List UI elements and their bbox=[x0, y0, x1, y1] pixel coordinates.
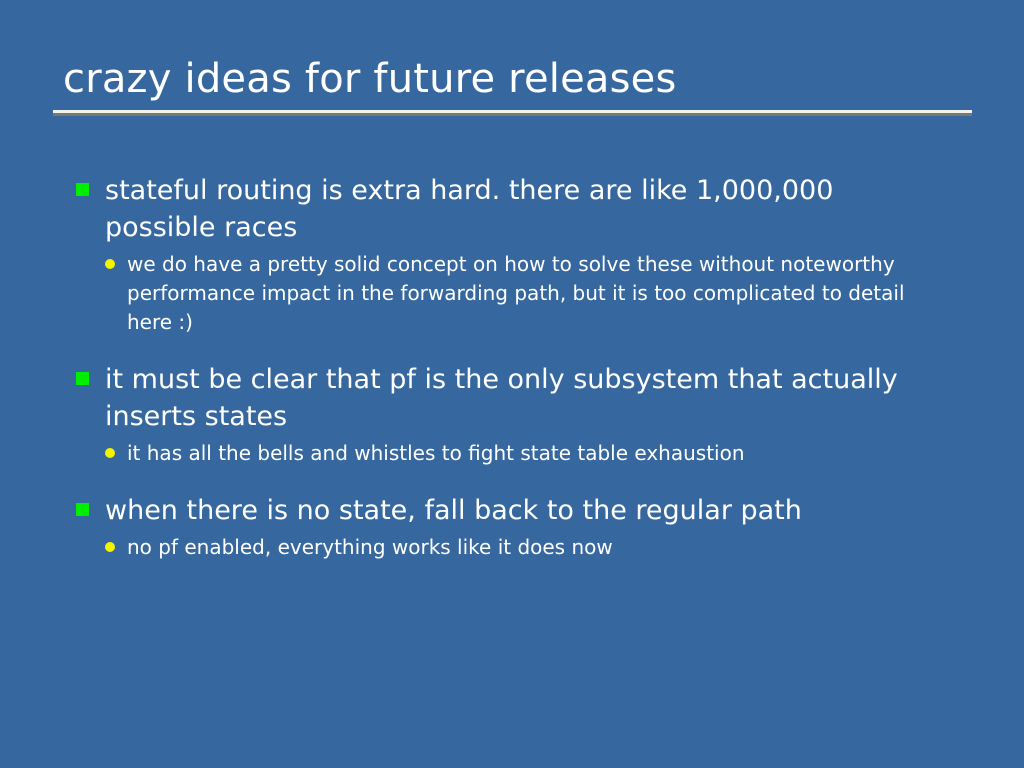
bullet-level1: when there is no state, fall back to the… bbox=[76, 492, 976, 529]
sub-bullet-list: no pf enabled, everything works like it … bbox=[76, 533, 976, 562]
circle-bullet-icon bbox=[105, 448, 115, 458]
bullet-level2-text: it has all the bells and whistles to fig… bbox=[127, 439, 917, 468]
bullet-level2-text: no pf enabled, everything works like it … bbox=[127, 533, 917, 562]
bullet-level1: stateful routing is extra hard. there ar… bbox=[76, 172, 976, 246]
bullet-group: stateful routing is extra hard. there ar… bbox=[76, 172, 976, 337]
square-bullet-icon bbox=[76, 503, 89, 516]
sub-bullet-list: we do have a pretty solid concept on how… bbox=[76, 250, 976, 337]
bullet-level2-text: we do have a pretty solid concept on how… bbox=[127, 250, 917, 337]
bullet-level1-text: it must be clear that pf is the only sub… bbox=[105, 361, 935, 435]
bullet-group: it must be clear that pf is the only sub… bbox=[76, 361, 976, 468]
bullet-level1-text: stateful routing is extra hard. there ar… bbox=[105, 172, 935, 246]
page-title: crazy ideas for future releases bbox=[53, 52, 972, 106]
bullet-level1: it must be clear that pf is the only sub… bbox=[76, 361, 976, 435]
circle-bullet-icon bbox=[105, 542, 115, 552]
title-divider bbox=[53, 110, 972, 113]
bullet-group: when there is no state, fall back to the… bbox=[76, 492, 976, 562]
bullet-level2: no pf enabled, everything works like it … bbox=[105, 533, 976, 562]
bullet-level2: we do have a pretty solid concept on how… bbox=[105, 250, 976, 337]
circle-bullet-icon bbox=[105, 259, 115, 269]
bullet-level1-text: when there is no state, fall back to the… bbox=[105, 492, 935, 529]
sub-bullet-list: it has all the bells and whistles to fig… bbox=[76, 439, 976, 468]
presentation-slide: crazy ideas for future releases stateful… bbox=[0, 0, 1024, 768]
square-bullet-icon bbox=[76, 183, 89, 196]
slide-body: stateful routing is extra hard. there ar… bbox=[76, 172, 976, 562]
bullet-level2: it has all the bells and whistles to fig… bbox=[105, 439, 976, 468]
slide-title-block: crazy ideas for future releases bbox=[53, 52, 972, 113]
square-bullet-icon bbox=[76, 372, 89, 385]
